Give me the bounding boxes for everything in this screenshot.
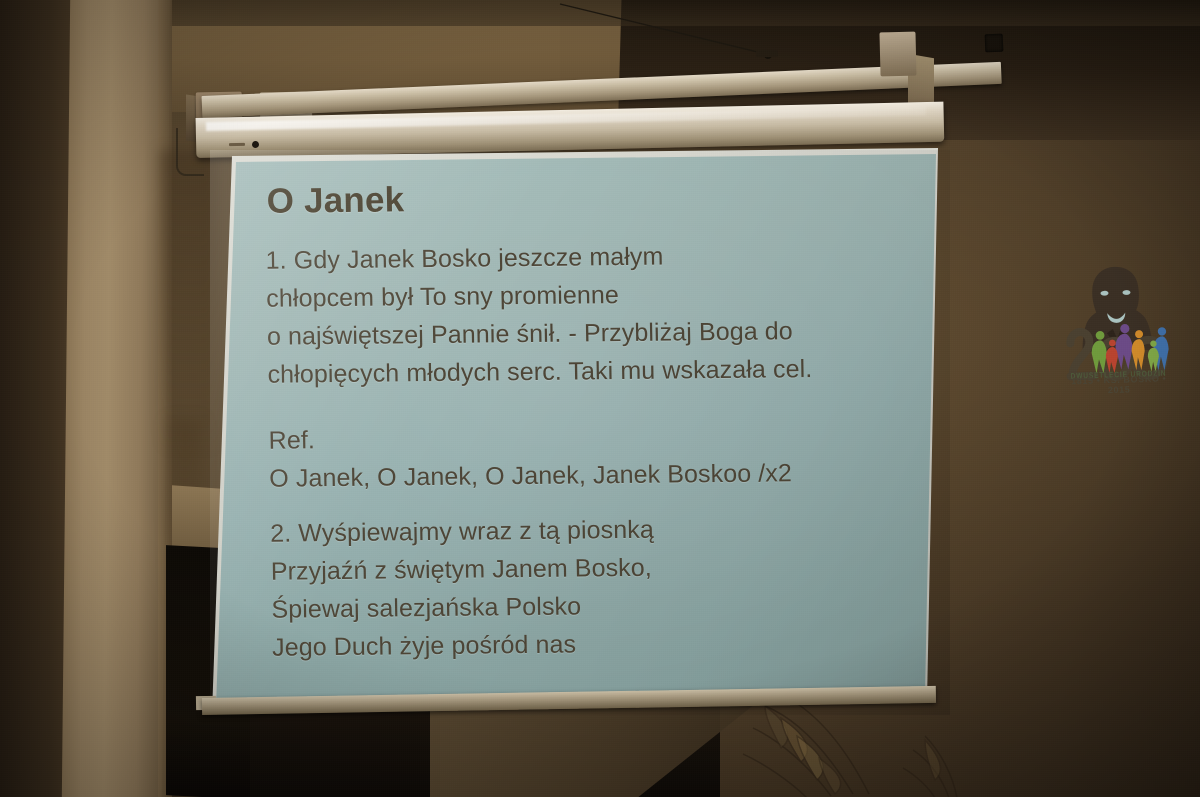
mounting-rail-endcap — [985, 34, 1004, 53]
slide-refrain: Ref. O Janek, O Janek, O Janek, Janek Bo… — [268, 415, 929, 498]
slide-verse-2: 2. Wyśpiewajmy wraz z tą piosnką Przyjaź… — [270, 508, 932, 667]
power-cable — [176, 128, 204, 176]
screen-bracket-right — [879, 32, 916, 77]
casing-slot — [229, 143, 245, 146]
suspension-wire — [560, 2, 784, 64]
don-bosco-bicentenary-logo: DWUSETLECIE URODZIN 1815 • KS. BOSKO • 2… — [1050, 261, 1183, 405]
logo-caption-bottom: 1815 • KS. BOSKO • 2015 — [1059, 373, 1180, 397]
photo-scene: O Janek 1. Gdy Janek Bosko jeszcze małym… — [0, 0, 1200, 797]
wall-pillar — [62, 0, 170, 797]
slide: O Janek 1. Gdy Janek Bosko jeszcze małym… — [242, 153, 951, 705]
slide-title: O Janek — [266, 180, 404, 221]
slide-verse-1: 1. Gdy Janek Bosko jeszcze małym chłopce… — [265, 235, 927, 394]
